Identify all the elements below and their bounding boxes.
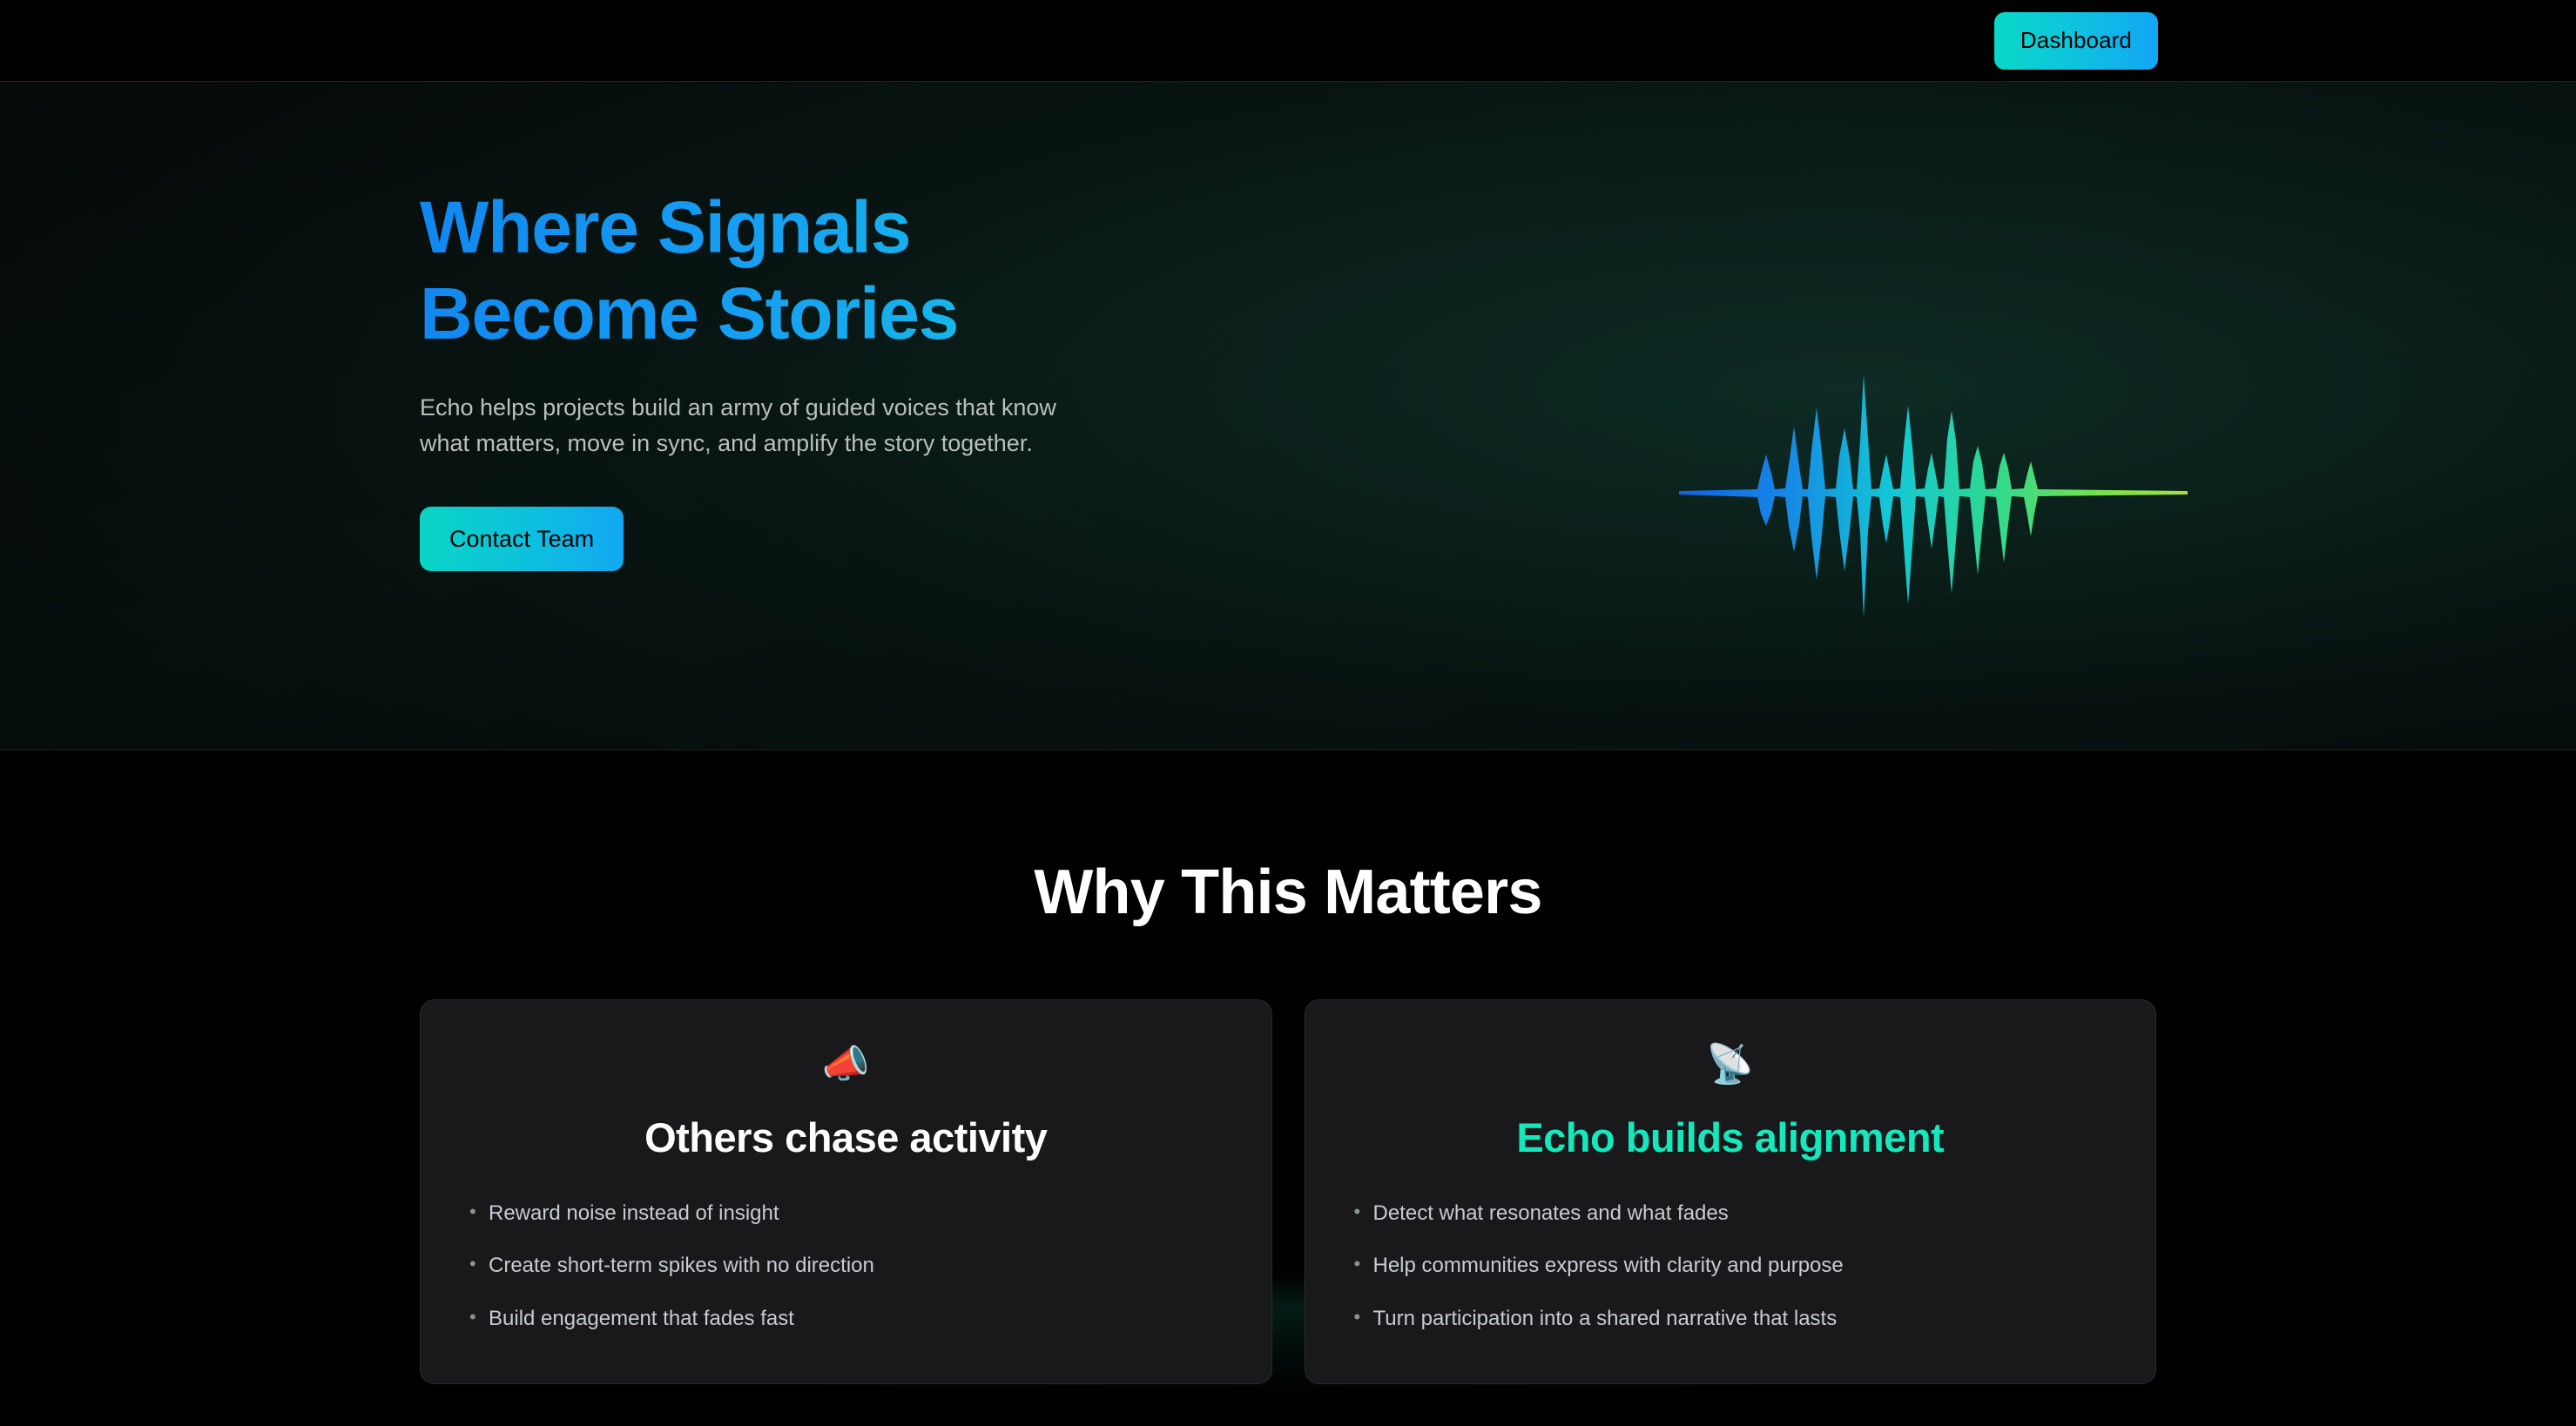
contact-team-button[interactable]: Contact Team	[420, 507, 624, 571]
card-title-echo: Echo builds alignment	[1354, 1113, 2107, 1161]
list-item: Reward noise instead of insight	[469, 1200, 1223, 1228]
card-title-others: Others chase activity	[469, 1113, 1223, 1161]
dashboard-button[interactable]: Dashboard	[1994, 12, 2158, 70]
comparison-cards: 📣 Others chase activity Reward noise ins…	[0, 999, 2576, 1384]
hero-section: Where Signals Become Stories Echo helps …	[0, 82, 2576, 750]
section-title: Why This Matters	[0, 857, 2576, 928]
megaphone-icon: 📣	[469, 1046, 1223, 1091]
hero-inner: Where Signals Become Stories Echo helps …	[0, 82, 2576, 750]
card-list-others: Reward noise instead of insight Create s…	[469, 1200, 1223, 1333]
hero-copy: Where Signals Become Stories Echo helps …	[420, 82, 1465, 571]
site-header: Dashboard	[0, 0, 2576, 82]
hero-subtitle: Echo helps projects build an army of gui…	[420, 390, 1256, 461]
card-list-echo: Detect what resonates and what fades Hel…	[1354, 1200, 2107, 1333]
list-item: Turn participation into a shared narrati…	[1354, 1305, 2107, 1333]
list-item: Create short-term spikes with no directi…	[469, 1252, 1223, 1280]
list-item: Detect what resonates and what fades	[1354, 1200, 2107, 1228]
why-this-matters-section: Why This Matters 📣 Others chase activity…	[0, 750, 2576, 1384]
hero-title: Where Signals Become Stories	[420, 185, 1465, 357]
card-others-chase-activity: 📣 Others chase activity Reward noise ins…	[420, 999, 1272, 1384]
list-item: Help communities express with clarity an…	[1354, 1252, 2107, 1280]
list-item: Build engagement that fades fast	[469, 1305, 1223, 1333]
card-echo-builds-alignment: 📡 Echo builds alignment Detect what reso…	[1305, 999, 2157, 1384]
satellite-dish-icon: 📡	[1354, 1046, 2107, 1091]
